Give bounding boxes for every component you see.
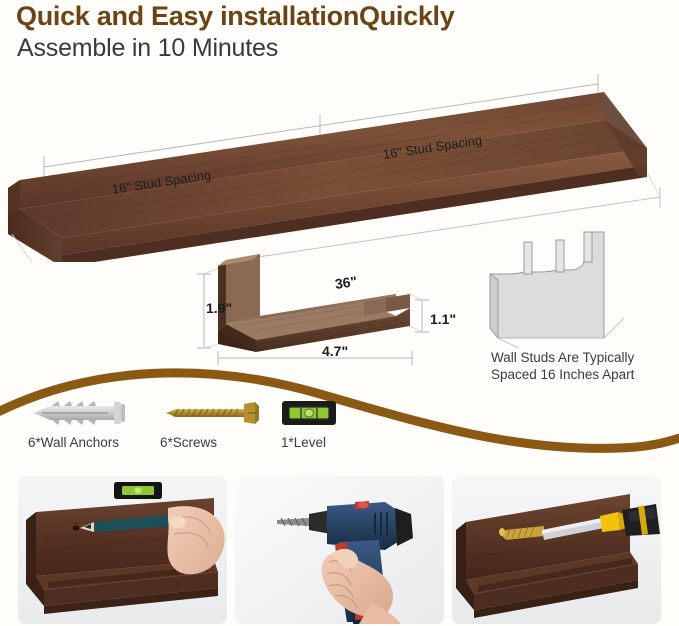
page-subtitle: Assemble in 10 Minutes	[17, 34, 278, 63]
hardware-item-wall-anchors: 6*Wall Anchors	[28, 398, 140, 460]
hardware-label-level: 1*Level	[281, 435, 337, 450]
bubble-level-icon	[281, 398, 337, 432]
hardware-label-screws: 6*Screws	[160, 435, 264, 450]
hardware-item-screws: 6*Screws	[160, 398, 264, 460]
photo-drill-wall-hole	[235, 476, 444, 624]
infographic-page: Quick and Easy installationQuickly Assem…	[0, 0, 679, 626]
dimension-label-depth: 4.7"	[322, 343, 348, 359]
installation-step-photos	[0, 476, 679, 626]
dimension-label-height: 1.9"	[206, 300, 232, 316]
wall-anchor-icon	[28, 398, 140, 432]
wall-studs-illustration	[472, 230, 652, 350]
wall-studs-caption-line1: Wall Studs Are Typically	[491, 349, 671, 366]
photo-mark-with-level-and-pencil	[18, 476, 227, 624]
screw-icon	[160, 398, 264, 432]
page-title: Quick and Easy installationQuickly	[16, 1, 454, 32]
photo-drive-screw-with-screwdriver	[452, 476, 661, 624]
dimension-label-lip-height: 1.1"	[430, 311, 456, 327]
hardware-item-level: 1*Level	[281, 398, 337, 460]
hardware-label-wall-anchors: 6*Wall Anchors	[28, 435, 140, 450]
